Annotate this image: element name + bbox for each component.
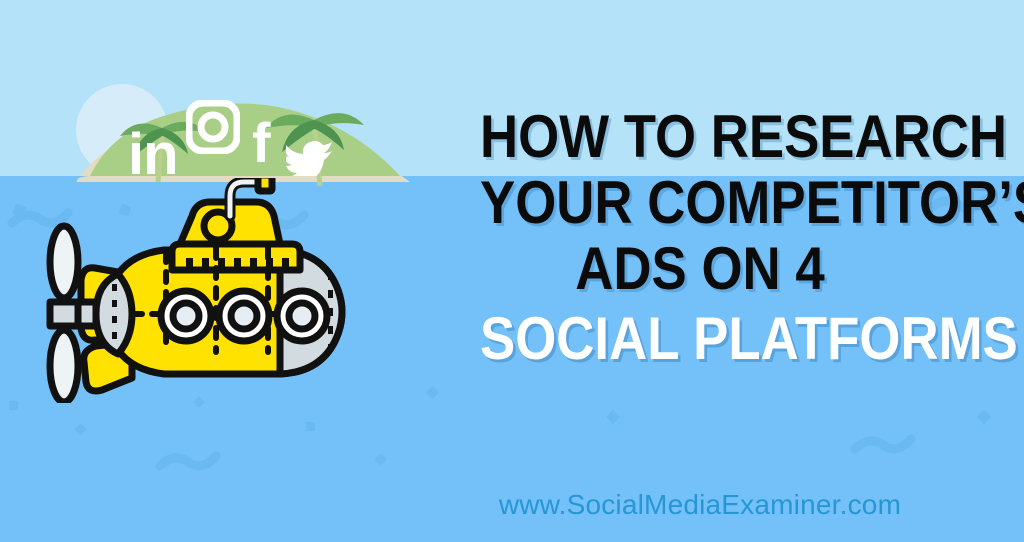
propeller-blade-bottom [50,330,78,402]
yellow-submarine [40,178,380,403]
porthole-glass-2 [231,303,257,329]
propeller-hub [50,302,78,326]
twitter-icon [286,136,334,176]
propeller-blade-top [50,226,78,298]
porthole-glass-3 [289,303,315,329]
website-url[interactable]: www.SocialMediaExaminer.com [450,489,950,521]
headline: HOW TO RESEARCH YOUR COMPETITOR’S ADS ON… [450,104,950,372]
instagram-icon [186,100,240,154]
headline-line-1: HOW TO RESEARCH [480,104,920,170]
promo-graphic: in f [0,0,1024,542]
headline-line-2: YOUR COMPETITOR’S [480,170,920,236]
headline-line-3: ADS ON 4 [480,236,920,302]
porthole-glass-1 [173,303,199,329]
headline-line-4: SOCIAL PLATFORMS [480,306,920,372]
linkedin-icon: in [128,126,178,184]
facebook-icon: f [252,115,271,171]
periscope-head [258,178,272,191]
tropical-island [70,78,420,188]
